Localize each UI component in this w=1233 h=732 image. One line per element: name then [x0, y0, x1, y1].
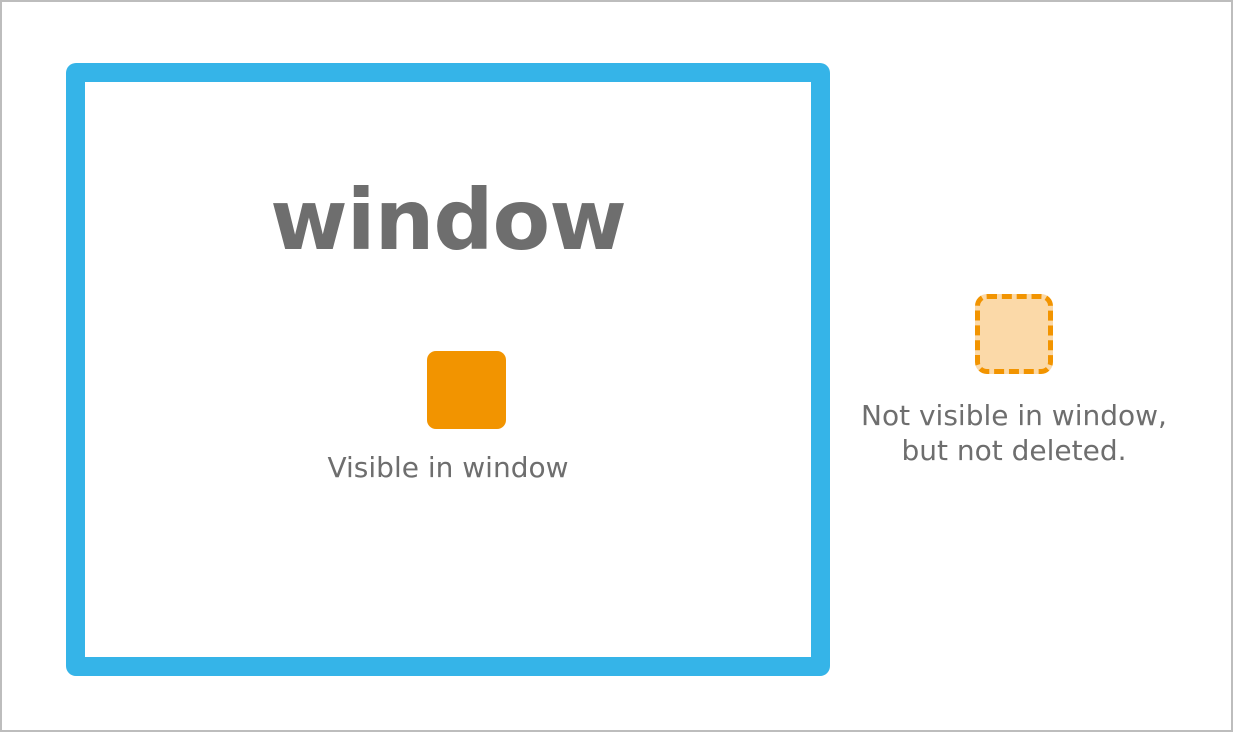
hidden-item-caption-line-2: but not deleted. — [832, 433, 1196, 468]
diagram-canvas: window Visible in window Not visible in … — [0, 0, 1233, 732]
hidden-item-dashed-square-icon — [975, 294, 1053, 374]
hidden-item-caption: Not visible in window, but not deleted. — [832, 398, 1196, 468]
visible-item-caption: Visible in window — [85, 451, 811, 484]
window-title: window — [85, 178, 811, 262]
window-frame: window Visible in window — [66, 63, 830, 676]
visible-item-square-icon — [427, 351, 506, 429]
hidden-item-caption-line-1: Not visible in window, — [832, 398, 1196, 433]
